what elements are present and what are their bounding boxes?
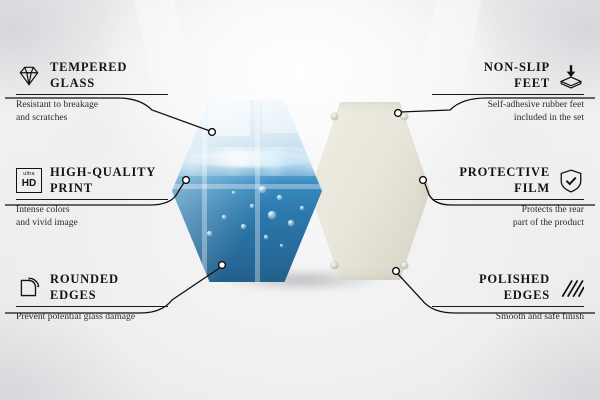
glass-reflection-horizontal <box>172 184 322 189</box>
rubber-foot <box>401 262 408 269</box>
feature-title: PROTECTIVEFILM <box>459 165 550 196</box>
feature-title: HIGH-QUALITYPRINT <box>50 165 156 196</box>
title-divider <box>16 306 168 307</box>
rubber-foot <box>401 113 408 120</box>
rubber-foot <box>331 262 338 269</box>
feature-high-quality-print: ultra HD HIGH-QUALITYPRINT Intense color… <box>16 165 168 229</box>
print-bubble <box>207 231 212 236</box>
feature-description: Resistant to breakageand scratches <box>16 99 168 124</box>
feature-description: Smooth and safe finish <box>432 311 584 324</box>
infographic-canvas: TEMPEREDGLASS Resistant to breakageand s… <box>0 0 600 400</box>
feature-description: Prevent potential glass damage <box>16 311 168 324</box>
feature-rounded-edges: ROUNDEDEDGES Prevent potential glass dam… <box>16 272 168 324</box>
polish-shine-lines-icon <box>558 275 584 301</box>
back-panel-surface <box>310 102 430 280</box>
feature-protective-film: PROTECTIVEFILM Protects the rearpart of … <box>432 165 584 229</box>
feature-title: NON-SLIPFEET <box>484 60 550 91</box>
print-bubble <box>259 186 266 193</box>
print-bubble <box>232 191 235 194</box>
print-bubble <box>268 211 276 219</box>
ultra-hd-badge-icon: ultra HD <box>16 168 42 193</box>
front-panel <box>172 100 322 282</box>
diamond-gem-icon <box>16 63 42 89</box>
press-down-pad-icon <box>558 63 584 89</box>
title-divider <box>432 199 584 200</box>
back-panel <box>310 102 430 280</box>
print-bubble <box>288 220 294 226</box>
print-bubble <box>222 215 226 219</box>
front-panel-print <box>172 100 322 282</box>
title-divider <box>432 94 584 95</box>
print-bubble <box>280 244 283 247</box>
rounded-corner-icon <box>16 275 42 301</box>
rubber-foot <box>331 113 338 120</box>
feature-tempered-glass: TEMPEREDGLASS Resistant to breakageand s… <box>16 60 168 124</box>
title-divider <box>16 94 168 95</box>
feature-title: POLISHEDEDGES <box>479 272 550 303</box>
title-divider <box>16 199 168 200</box>
print-bubble <box>241 224 246 229</box>
feature-polished-edges: POLISHEDEDGES Smooth and safe finish <box>432 272 584 324</box>
print-bubble <box>300 206 304 210</box>
print-bubble <box>277 195 282 200</box>
print-bubble <box>250 204 254 208</box>
print-bubble <box>264 235 268 239</box>
title-divider <box>432 306 584 307</box>
shield-check-icon <box>558 168 584 194</box>
feature-description: Intense colorsand vivid image <box>16 204 168 229</box>
feature-title: TEMPEREDGLASS <box>50 60 127 91</box>
feature-description: Protects the rearpart of the product <box>432 204 584 229</box>
feature-title: ROUNDEDEDGES <box>50 272 119 303</box>
feature-description: Self-adhesive rubber feetincluded in the… <box>432 99 584 124</box>
feature-non-slip-feet: NON-SLIPFEET Self-adhesive rubber feetin… <box>432 60 584 124</box>
